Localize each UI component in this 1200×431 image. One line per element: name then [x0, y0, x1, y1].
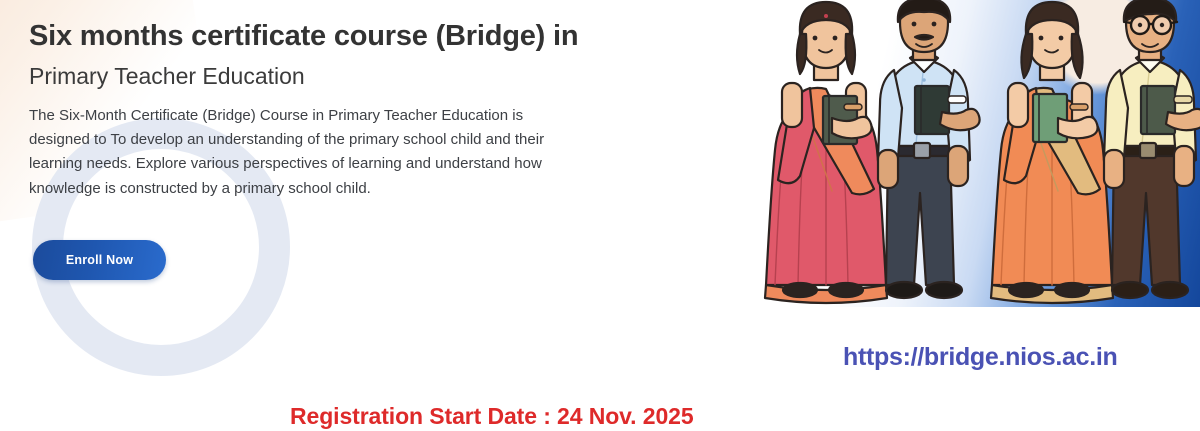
page-subtitle: Primary Teacher Education [29, 63, 629, 89]
registration-dates: Registration Start Date : 24 Nov. 2025 R… [290, 335, 698, 431]
figure-woman-red-saree [765, 2, 887, 303]
registration-start-date: Registration Start Date : 24 Nov. 2025 [290, 400, 698, 431]
figure-man-cream-shirt [1104, 0, 1200, 298]
banner-text-column: Six months certificate course (Bridge) i… [29, 20, 629, 201]
page-title: Six months certificate course (Bridge) i… [29, 20, 629, 53]
course-promo-banner: Six months certificate course (Bridge) i… [0, 0, 1200, 431]
enroll-now-button[interactable]: Enroll Now [33, 240, 166, 280]
teachers-artwork [736, 0, 1200, 307]
bridge-portal-link[interactable]: https://bridge.nios.ac.in [843, 343, 1117, 372]
figure-man-blue-shirt [878, 0, 980, 298]
course-description: The Six-Month Certificate (Bridge) Cours… [29, 104, 577, 201]
five-teachers-illustration [736, 0, 1200, 307]
figure-woman-orange-saree [991, 2, 1113, 303]
